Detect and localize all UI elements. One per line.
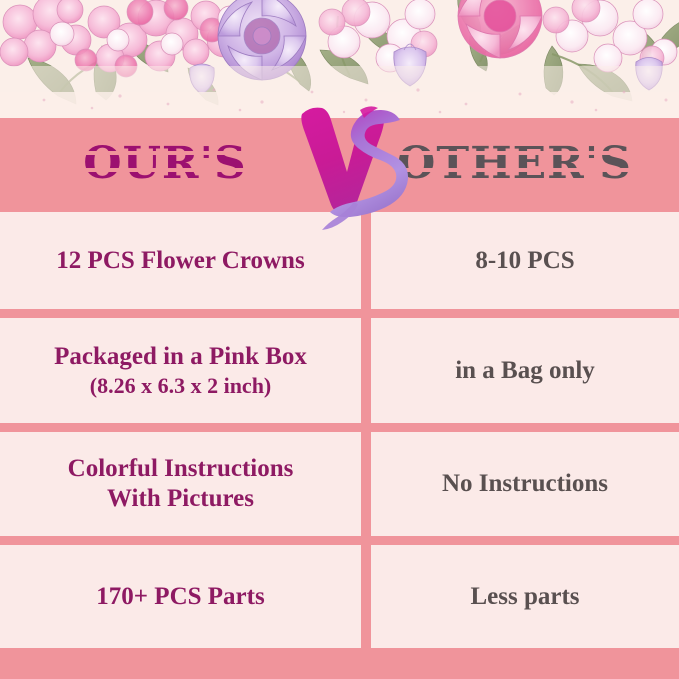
cell-ours-4: 170+ PCS Parts: [0, 545, 361, 648]
cell-others-1-text: 8-10 PCS: [475, 247, 574, 275]
table-row: Colorful Instructions With Pictures No I…: [0, 432, 679, 536]
floral-banner: [0, 0, 679, 119]
comparison-table: 12 PCS Flower Crowns 8-10 PCS Packaged i…: [0, 209, 679, 649]
cell-ours-2-subtext: (8.26 x 6.3 x 2 inch): [90, 374, 272, 399]
header-others-label: OTHER'S: [397, 138, 632, 189]
table-row: Packaged in a Pink Box (8.26 x 6.3 x 2 i…: [0, 318, 679, 423]
cell-others-1: 8-10 PCS: [371, 212, 679, 309]
cell-others-4: Less parts: [371, 545, 679, 648]
header-ours: OUR'S: [0, 118, 330, 209]
cell-ours-2: Packaged in a Pink Box (8.26 x 6.3 x 2 i…: [0, 318, 361, 423]
cell-ours-4-text: 170+ PCS Parts: [96, 583, 264, 611]
vs-badge: [296, 104, 414, 232]
footer-band: [0, 648, 679, 679]
cell-others-3: No Instructions: [371, 432, 679, 536]
table-row: 170+ PCS Parts Less parts: [0, 545, 679, 648]
cell-ours-3: Colorful Instructions With Pictures: [0, 432, 361, 536]
cell-others-2-text: in a Bag only: [455, 357, 595, 385]
floral-illustration: [0, 0, 679, 119]
header-ours-label: OUR'S: [83, 138, 247, 189]
cell-ours-3-text2: With Pictures: [107, 485, 254, 513]
vs-brush-icon: [296, 104, 414, 232]
cell-others-4-text: Less parts: [470, 583, 579, 611]
cell-ours-3-text: Colorful Instructions: [68, 455, 294, 483]
cell-ours-1-text: 12 PCS Flower Crowns: [56, 247, 304, 275]
cell-ours-2-text: Packaged in a Pink Box: [54, 343, 307, 371]
cell-others-3-text: No Instructions: [442, 470, 608, 498]
cell-others-2: in a Bag only: [371, 318, 679, 423]
